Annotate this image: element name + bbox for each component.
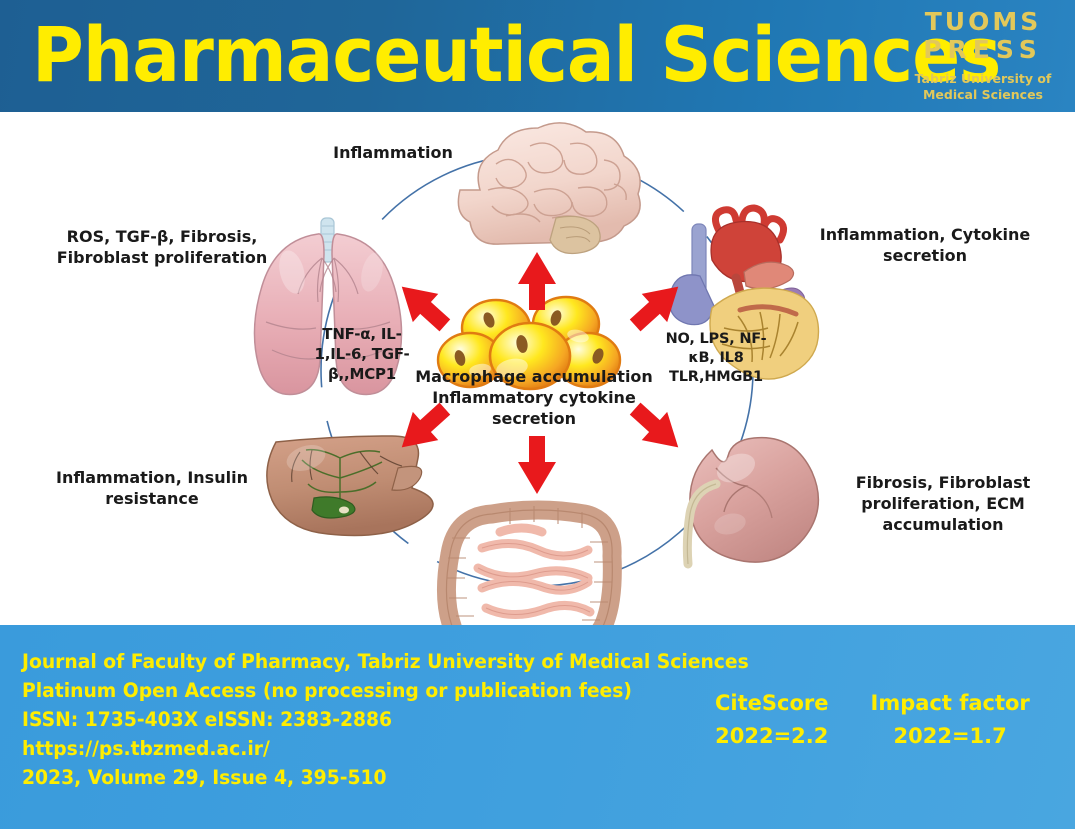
logo-press-text: PRESS: [913, 36, 1053, 64]
label-heart-outcome: Inflammation, Cytokine secretion: [790, 224, 1060, 266]
journal-metrics: CiteScore 2022=2.2 Impact factor 2022=1.…: [715, 687, 1030, 753]
intestine-illustration: [446, 506, 612, 625]
footer-line-volume: 2023, Volume 29, Issue 4, 395-510: [22, 763, 694, 792]
journal-header-banner: Pharmaceutical Sciences TUOMS PRESS Tabr…: [0, 0, 1075, 112]
footer-line-access: Platinum Open Access (no processing or p…: [22, 676, 694, 705]
mediators-left-line2: 1,IL-6, TGF-: [300, 345, 424, 365]
footer-line-affiliation: Journal of Faculty of Pharmacy, Tabriz U…: [22, 647, 694, 676]
page-title: Pharmaceutical Sciences: [32, 14, 1000, 96]
metric-impact-factor-value: 2022=1.7: [871, 720, 1030, 753]
mediators-left-line1: TNF-α, IL-: [300, 325, 424, 345]
journal-info-block: Journal of Faculty of Pharmacy, Tabriz U…: [22, 647, 722, 792]
mediators-right-line1: NO, LPS, NF-: [648, 330, 784, 349]
label-mediators-left: TNF-α, IL- 1,IL-6, TGF- β,,MCP1: [300, 325, 424, 384]
label-mediators-right: NO, LPS, NF- κB, IL8 TLR,HMGB1: [648, 330, 784, 387]
mediators-left-line3: β,,MCP1: [300, 365, 424, 385]
label-lung-outcome: ROS, TGF-β, Fibrosis, Fibroblast prolife…: [22, 226, 302, 268]
mediators-right-line2: κB, IL8: [648, 349, 784, 368]
journal-footer-banner: Journal of Faculty of Pharmacy, Tabriz U…: [0, 625, 1075, 829]
logo-tuoms-text: TUOMS: [913, 8, 1053, 36]
metric-impact-factor: Impact factor 2022=1.7: [871, 687, 1030, 753]
metric-impact-factor-label: Impact factor: [871, 687, 1030, 720]
arrow-down-intestine: [518, 436, 556, 494]
label-center-macrophage: Macrophage accumulation Inflammatory cyt…: [408, 366, 660, 429]
footer-line-url[interactable]: https://ps.tbzmed.ac.ir/: [22, 734, 694, 763]
tuoms-press-logo: TUOMS PRESS Tabriz University of Medical…: [913, 8, 1053, 103]
footer-line-issn: ISSN: 1735-403X eISSN: 2383-2886: [22, 705, 694, 734]
center-line2: Inflammatory cytokine: [408, 387, 660, 408]
label-brain-outcome: Inflammation: [268, 142, 518, 163]
liver-illustration: [267, 436, 433, 536]
cover-figure: Inflammation ROS, TGF-β, Fibrosis, Fibro…: [0, 112, 1075, 625]
mediators-right-line3: TLR,HMGB1: [648, 368, 784, 387]
label-liver-outcome: Inflammation, Insulin resistance: [28, 467, 276, 509]
logo-subtitle-line2: Medical Sciences: [913, 87, 1053, 103]
center-line3: secretion: [408, 408, 660, 429]
label-kidney-outcome: Fibrosis, Fibroblast proliferation, ECM …: [818, 472, 1068, 535]
kidney-illustration: [687, 438, 818, 564]
logo-subtitle-line1: Tabriz University of: [913, 71, 1053, 87]
metric-citescore: CiteScore 2022=2.2: [715, 687, 829, 753]
metric-citescore-value: 2022=2.2: [715, 720, 829, 753]
center-line1: Macrophage accumulation: [408, 366, 660, 387]
metric-citescore-label: CiteScore: [715, 687, 829, 720]
